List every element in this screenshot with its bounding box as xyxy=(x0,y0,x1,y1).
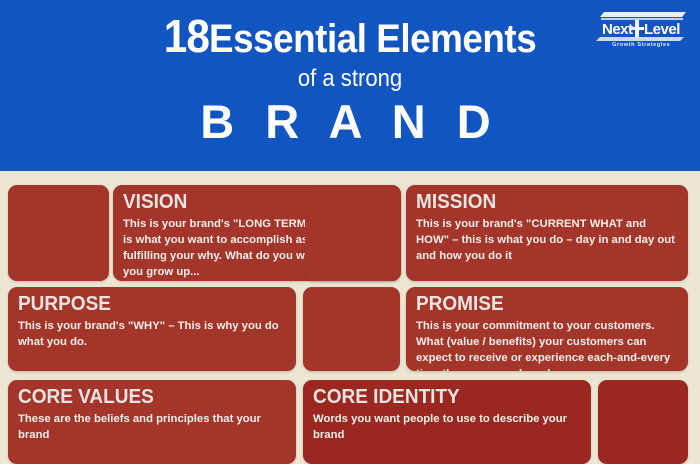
page-title-line-1: 18Essential Elements xyxy=(28,12,672,60)
card-body-purpose: This is your brand's "WHY" – This is why… xyxy=(18,318,286,350)
svg-text:Level: Level xyxy=(644,21,680,38)
page-title-rest: Essential Elements xyxy=(209,17,536,61)
card-blank-3[interactable] xyxy=(303,287,400,371)
card-blank-4[interactable] xyxy=(598,380,688,464)
card-title-promise: PROMISE xyxy=(416,294,665,315)
card-purpose[interactable]: PURPOSE This is your brand's "WHY" – Thi… xyxy=(8,287,296,371)
card-title-purpose: PURPOSE xyxy=(18,294,273,315)
card-mission[interactable]: MISSION This is your brand's "CURRENT WH… xyxy=(406,185,688,281)
page-title-brand: B R A N D xyxy=(0,98,700,146)
header-title-block: 18Essential Elements of a strong B R A N… xyxy=(0,0,700,146)
svg-text:Next: Next xyxy=(602,21,633,38)
element-count: 18 xyxy=(164,10,209,62)
card-title-core-identity: CORE IDENTITY xyxy=(313,387,568,408)
card-blank-2[interactable] xyxy=(305,185,401,281)
page-subtitle: of a strong xyxy=(28,66,672,92)
card-core-values[interactable]: CORE VALUES These are the beliefs and pr… xyxy=(8,380,296,464)
card-promise[interactable]: PROMISE This is your commitment to your … xyxy=(406,287,688,371)
infographic-header: 18Essential Elements of a strong B R A N… xyxy=(0,0,700,171)
next-level-logo[interactable]: Next Level Growth Strategies xyxy=(596,8,688,48)
card-title-core-values: CORE VALUES xyxy=(18,387,273,408)
card-body-promise: This is your commitment to your customer… xyxy=(416,318,678,371)
card-core-identity[interactable]: CORE IDENTITY Words you want people to u… xyxy=(303,380,591,464)
card-body-core-values: These are the beliefs and principles tha… xyxy=(18,411,286,443)
card-title-mission: MISSION xyxy=(416,192,665,213)
svg-text:Growth Strategies: Growth Strategies xyxy=(612,42,670,48)
card-body-core-identity: Words you want people to use to describe… xyxy=(313,411,581,443)
card-blank-1[interactable] xyxy=(8,185,109,281)
card-body-mission: This is your brand's "CURRENT WHAT and H… xyxy=(416,216,678,264)
